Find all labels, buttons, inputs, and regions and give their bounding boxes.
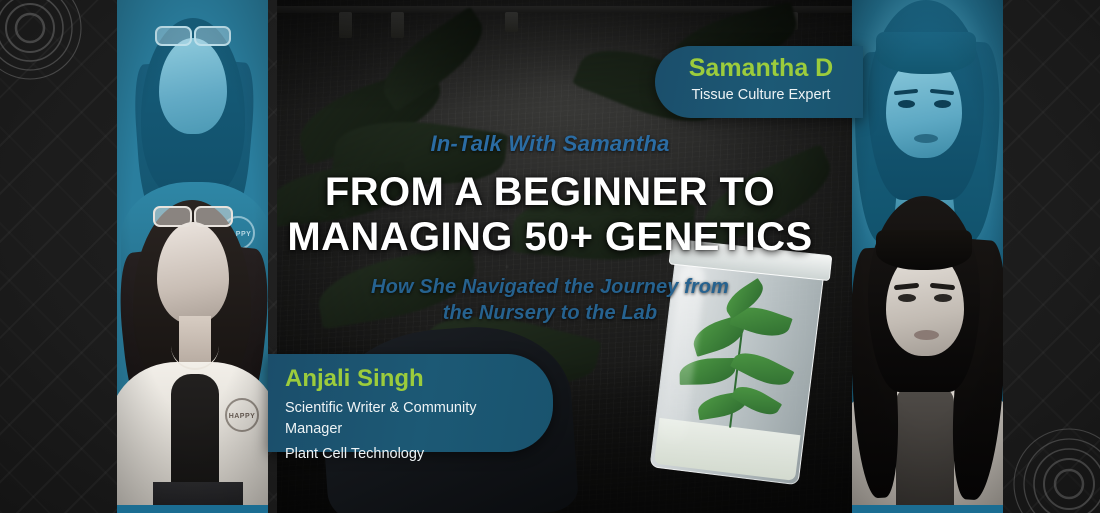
host-name: Anjali Singh: [285, 366, 537, 391]
subtitle-line-1: How She Navigated the Journey from: [0, 274, 1100, 300]
webinar-promo-banner: HAPPY HAPPY: [0, 0, 1100, 513]
host-role: Scientific Writer & Community Manager: [285, 398, 537, 440]
headline-block: In-Talk With Samantha FROM A BEGINNER TO…: [0, 132, 1100, 327]
host-organization: Plant Cell Technology: [285, 444, 537, 465]
speaker-role: Tissue Culture Expert: [669, 85, 853, 106]
subtitle-line-2: the Nursery to the Lab: [0, 300, 1100, 326]
panel-bottom-strip: [117, 505, 268, 513]
subtitle: How She Navigated the Journey from the N…: [0, 274, 1100, 327]
headline-line-2: MANAGING 50+ GENETICS: [0, 215, 1100, 260]
page-title: FROM A BEGINNER TO MANAGING 50+ GENETICS: [0, 170, 1100, 260]
speaker-name-card: Samantha D Tissue Culture Expert: [655, 46, 863, 118]
panel-bottom-strip: [852, 505, 1003, 513]
headline-line-1: FROM A BEGINNER TO: [325, 170, 775, 214]
eyebrow-text: In-Talk With Samantha: [0, 132, 1100, 156]
speaker-name: Samantha D: [669, 55, 853, 81]
host-name-card: Anjali Singh Scientific Writer & Communi…: [268, 354, 553, 452]
